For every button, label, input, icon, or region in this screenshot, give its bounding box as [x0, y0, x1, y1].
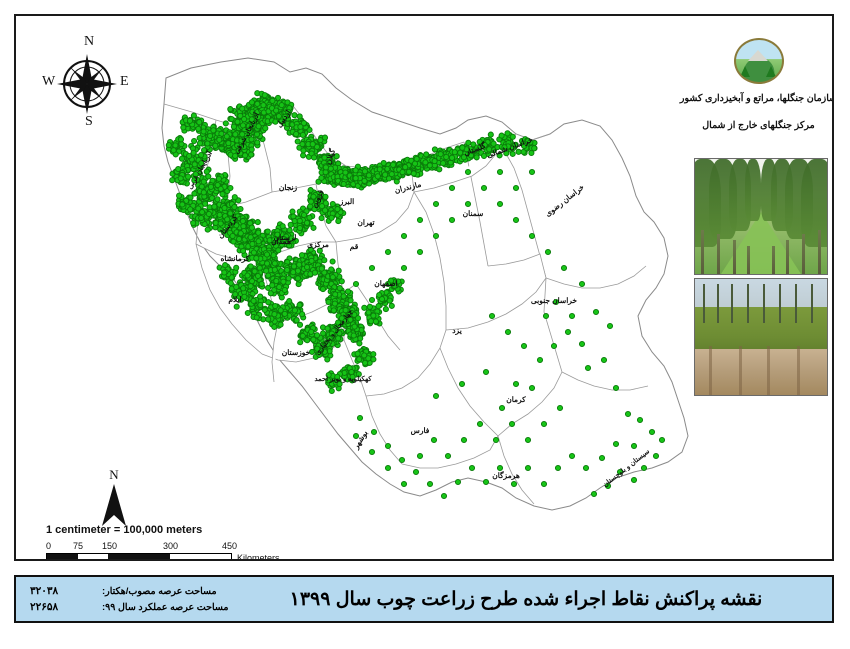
area-statistics: مساحت عرصه مصوب/هکتار: ۳۲۰۳۸ مساحت عرصه …: [16, 585, 260, 613]
compass-west-label: W: [42, 74, 55, 90]
young-poplar-rows-photo: [694, 278, 828, 396]
scale-unit-label: Kilometers: [237, 553, 280, 561]
approved-area-label: مساحت عرصه مصوب/هکتار:: [102, 586, 217, 597]
stat-row-performance-area: مساحت عرصه عملکرد سال ۹۹: ۲۲۶۵۸: [30, 601, 260, 613]
approved-area-value: ۳۲۰۳۸: [30, 585, 76, 597]
scale-tick-300: 300: [163, 541, 178, 551]
scale-equivalence-text: 1 centimeter = 100,000 meters: [46, 524, 246, 536]
performance-area-value: ۲۲۶۵۸: [30, 601, 76, 613]
organization-name: سازمان جنگلها، مراتع و آبخیزداری کشور: [676, 92, 834, 105]
map-frame: آذربایجان شرقیآذربایجان غربیاردبیلکردستا…: [14, 14, 834, 561]
stat-row-approved-area: مساحت عرصه مصوب/هکتار: ۳۲۰۳۸: [30, 585, 260, 597]
organization-header: سازمان جنگلها، مراتع و آبخیزداری کشور مر…: [676, 38, 834, 146]
organization-center-name: مرکز جنگلهای خارج از شمال: [676, 119, 834, 132]
compass-south-label: S: [85, 114, 93, 130]
scale-tick-75: 75: [73, 541, 83, 551]
map-title-bar: مساحت عرصه مصوب/هکتار: ۳۲۰۳۸ مساحت عرصه …: [14, 575, 834, 623]
compass-east-label: E: [120, 74, 129, 90]
poplar-plantation-photo: [694, 158, 828, 275]
scale-tick-0: 0: [46, 541, 51, 551]
scale-tick-150: 150: [102, 541, 117, 551]
scale-tick-labels: 0 75 150 300 450: [46, 541, 232, 553]
scale-tick-450: 450: [222, 541, 237, 551]
forest-organization-logo-icon: [734, 38, 784, 84]
compass-rose: N S W E: [40, 34, 134, 134]
north-arrow-label: N: [94, 468, 134, 482]
compass-north-label: N: [84, 34, 94, 50]
north-arrow-icon: [94, 482, 134, 528]
performance-area-label: مساحت عرصه عملکرد سال ۹۹:: [102, 602, 228, 613]
scale-bar-graphic: Kilometers: [46, 553, 232, 561]
north-arrow: N: [94, 468, 134, 530]
page-title: نقشه پراکنش نقاط اجراء شده طرح زراعت چوب…: [260, 588, 832, 611]
scale-bar: 1 centimeter = 100,000 meters 0 75 150 3…: [46, 524, 246, 561]
map-page: آذربایجان شرقیآذربایجان غربیاردبیلکردستا…: [0, 0, 850, 649]
